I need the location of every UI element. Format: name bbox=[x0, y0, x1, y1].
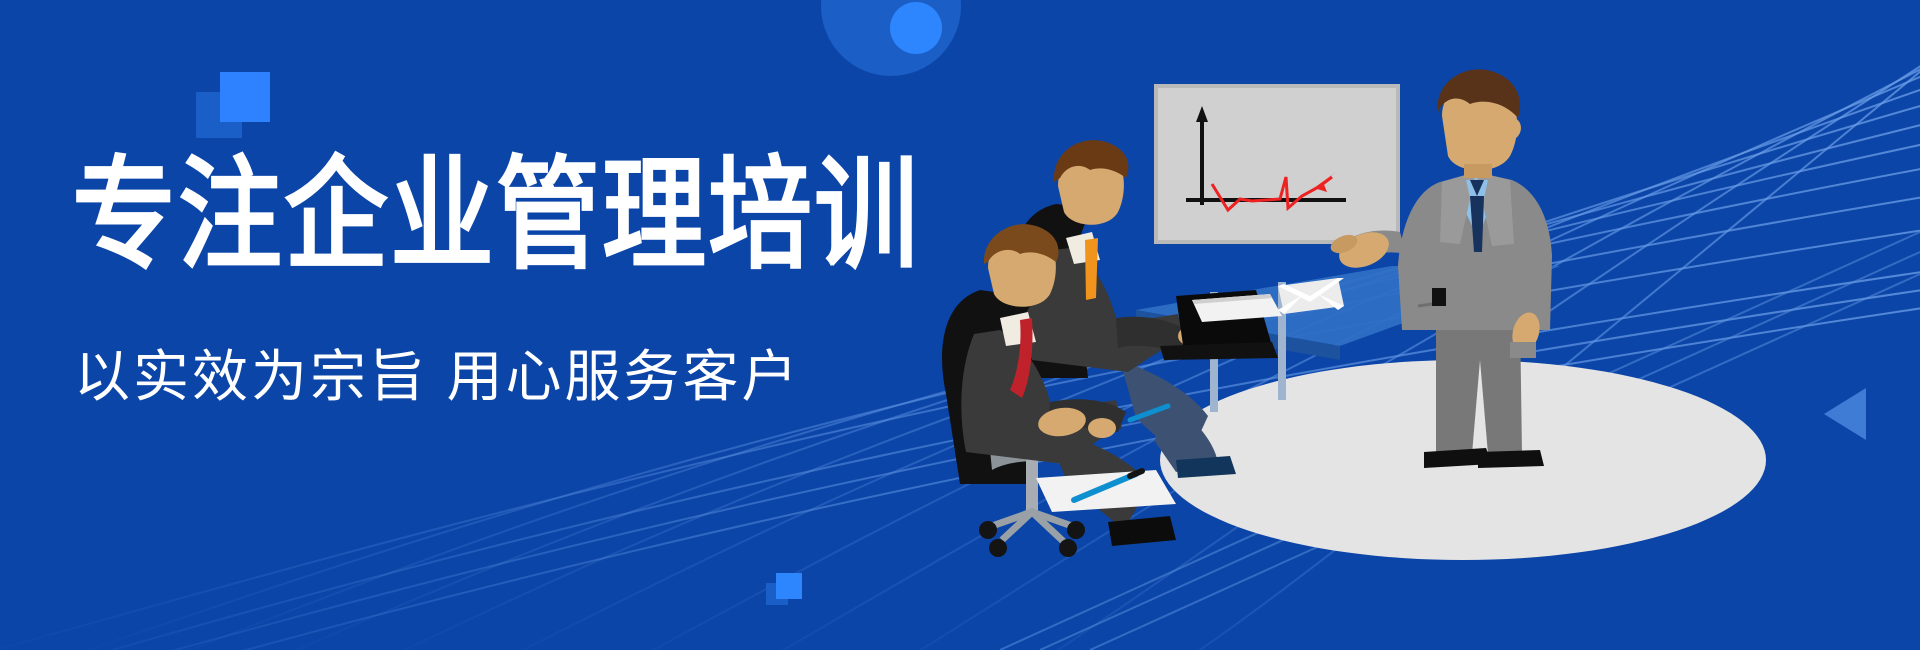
circle-decoration-small bbox=[890, 2, 942, 54]
banner-text-block: 专注企业管理培训 以实效为宗旨 用心服务客户 bbox=[72, 150, 1052, 262]
square-decoration-top-front bbox=[220, 72, 270, 122]
page-title: 专注企业管理培训 bbox=[72, 150, 1052, 283]
whiteboard bbox=[1154, 84, 1400, 244]
paper-sheet-front bbox=[1036, 470, 1176, 512]
promo-banner: 专注企业管理培训 以实效为宗旨 用心服务客户 bbox=[0, 0, 1920, 650]
square-decoration-bottom-front bbox=[776, 573, 802, 599]
page-subtitle: 以实效为宗旨 用心服务客户 bbox=[74, 346, 801, 408]
business-training-illustration bbox=[940, 60, 1920, 580]
